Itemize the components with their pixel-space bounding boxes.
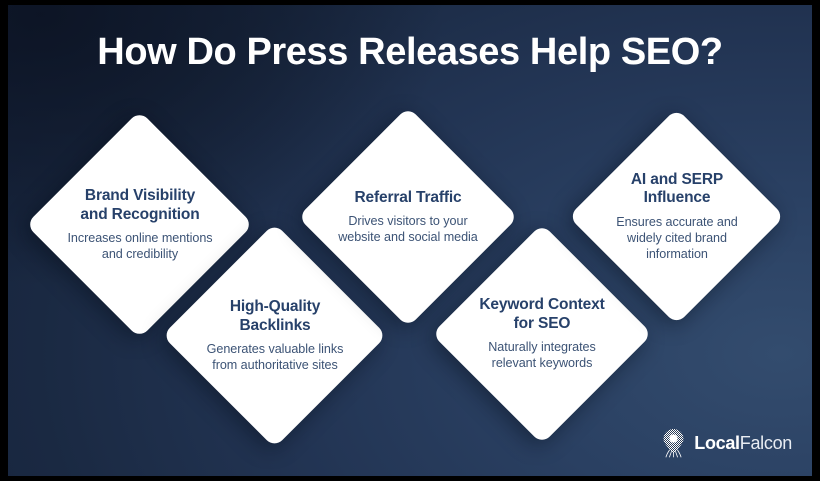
card-heading-line-2: and Recognition [80,206,199,223]
brand-logo: LocalFalcon [660,428,792,458]
card-body: Generates valuable links from authoritat… [207,341,344,374]
card-body: Naturally integrates relevant keywords [488,339,596,372]
page-title: How Do Press Releases Help SEO? [8,32,812,74]
card-body-line-2: widely cited brand [627,231,727,245]
card-heading: Referral Traffic [354,189,461,207]
card-body-line-1: Naturally integrates [488,340,596,354]
card-body: Ensures accurate and widely cited brand … [616,214,738,263]
infographic-canvas: How Do Press Releases Help SEO? Brand Vi… [8,5,812,476]
card-heading-line-2: Influence [644,189,711,206]
card-body-line-2: from authoritative sites [212,358,338,372]
card-body-line-3: information [646,247,708,261]
infographic-root: How Do Press Releases Help SEO? Brand Vi… [0,0,820,481]
card-heading-line-1: Brand Visibility [85,187,195,204]
card-body-line-2: relevant keywords [492,356,593,370]
card-heading-line-1: Referral Traffic [354,189,461,206]
brand-name-bold: Local [694,433,740,453]
card-body-line-1: Generates valuable links [207,342,344,356]
card-heading: Brand Visibility and Recognition [80,187,199,224]
card-content: AI and SERP Influence Ensures accurate a… [569,109,785,325]
card-heading-line-2: for SEO [514,315,571,332]
brand-name-light: Falcon [740,433,792,453]
card-heading: AI and SERP Influence [631,171,723,208]
card-heading-line-1: AI and SERP [631,171,723,188]
card-ai-serp-influence: AI and SERP Influence Ensures accurate a… [569,109,785,325]
map-pin-falcon-logo-icon [660,428,687,458]
card-body-line-1: Ensures accurate and [616,215,738,229]
brand-logo-text: LocalFalcon [694,434,792,452]
